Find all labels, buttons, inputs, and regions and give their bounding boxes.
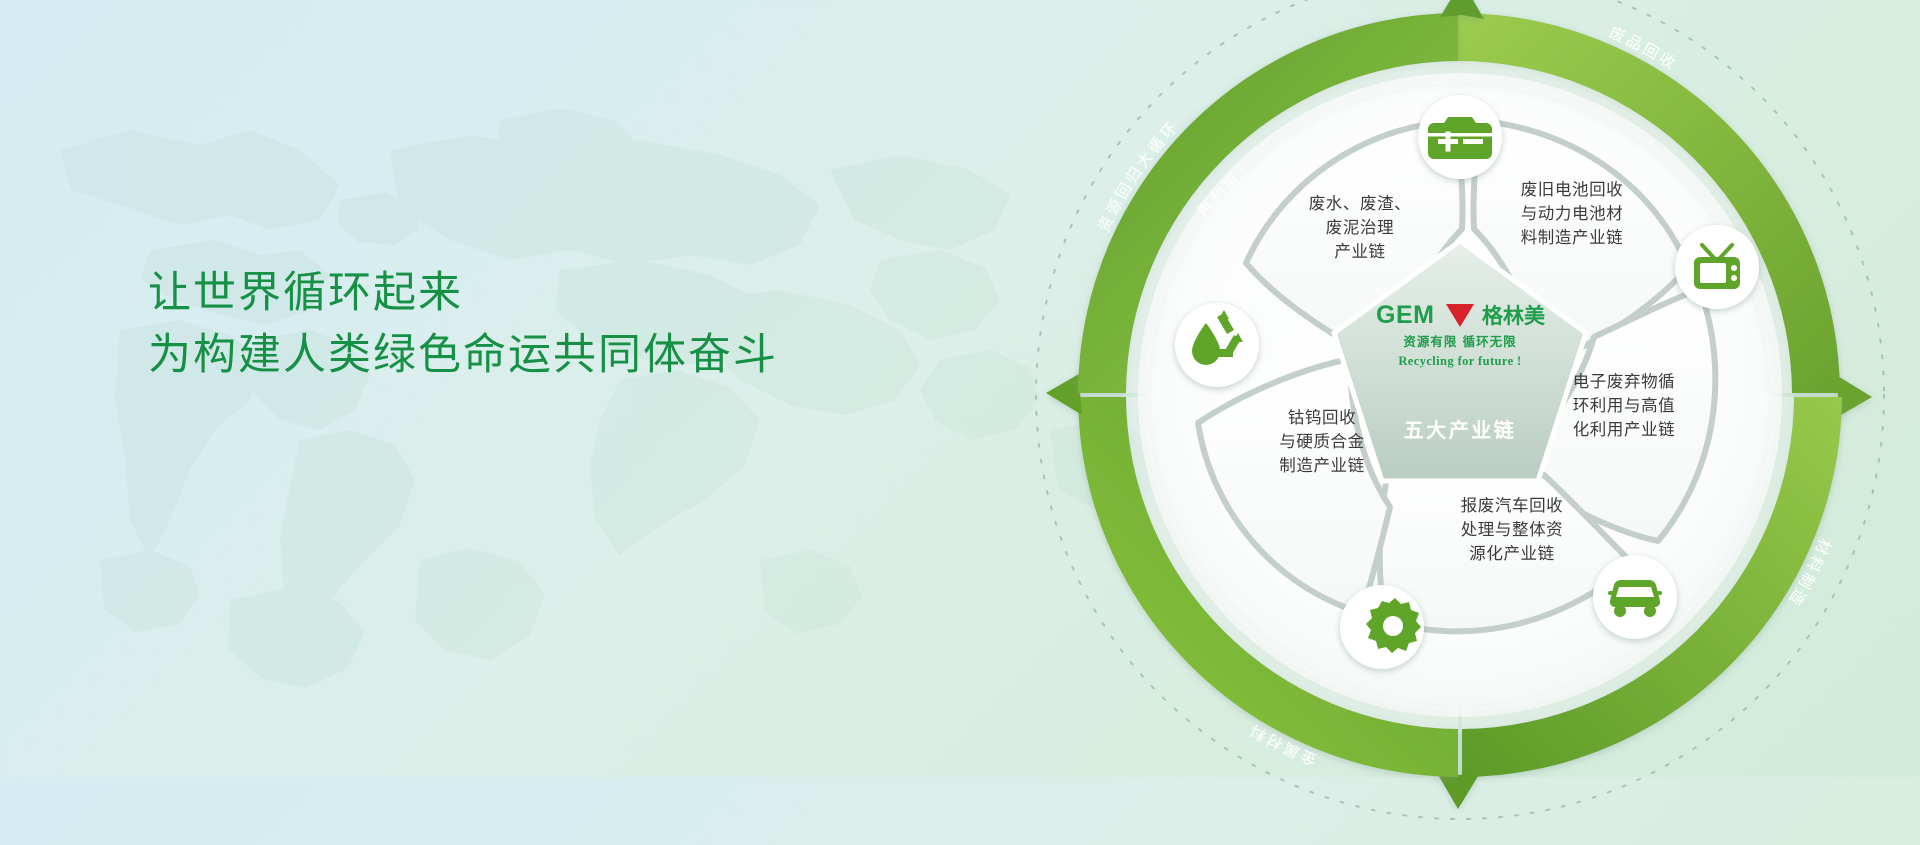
world-map-landmasses xyxy=(60,108,1165,688)
gem-logo-slogan-cn: 资源有限 循环无限 xyxy=(1403,334,1516,349)
center-title: 五大产业链 xyxy=(1404,418,1517,442)
segment-label-cobalt-tungsten: 钴钨回收 与硬质合金 制造产业链 xyxy=(1279,408,1365,475)
headline-line-1: 让世界循环起来 xyxy=(148,262,778,324)
headline-line-2: 为构建人类绿色命运共同体奋斗 xyxy=(148,324,778,386)
badge-gear[interactable] xyxy=(1340,585,1424,669)
svg-text:废泥治理: 废泥治理 xyxy=(1326,218,1394,237)
svg-text:报废汽车回收: 报废汽车回收 xyxy=(1461,496,1564,515)
badge-car[interactable] xyxy=(1593,555,1677,639)
svg-text:产业链: 产业链 xyxy=(1334,242,1385,261)
svg-text:与动力电池材: 与动力电池材 xyxy=(1521,204,1624,223)
svg-text:处理与整体资: 处理与整体资 xyxy=(1461,520,1564,539)
battery-icon xyxy=(1428,117,1492,159)
svg-text:与硬质合金: 与硬质合金 xyxy=(1279,432,1365,451)
svg-text:废旧电池回收: 废旧电池回收 xyxy=(1521,180,1624,199)
gem-logo-name-cn: 格林美 xyxy=(1482,304,1545,328)
five-industrial-chains-diagram: 废品回收 材料制造 金属材料 资源回归大循环 再利用 GEM 格林美 资源有限 … xyxy=(1010,0,1910,845)
badge-television[interactable] xyxy=(1675,225,1759,309)
svg-text:制造产业链: 制造产业链 xyxy=(1279,456,1365,475)
gem-logo-slogan-en: Recycling for future ! xyxy=(1398,354,1521,368)
gem-logo-mark: GEM xyxy=(1376,301,1434,329)
svg-text:源化产业链: 源化产业链 xyxy=(1469,544,1555,563)
segment-label-battery: 废旧电池回收 与动力电池材 料制造产业链 xyxy=(1521,180,1624,247)
badge-recycle-drop[interactable] xyxy=(1175,303,1259,387)
segment-label-vehicle: 报废汽车回收 处理与整体资 源化产业链 xyxy=(1461,496,1564,563)
svg-text:料制造产业链: 料制造产业链 xyxy=(1521,228,1624,247)
svg-text:钴钨回收: 钴钨回收 xyxy=(1288,408,1356,427)
badge-battery[interactable] xyxy=(1418,95,1502,179)
svg-text:电子废弃物循: 电子废弃物循 xyxy=(1573,372,1676,391)
segment-label-ewaste: 电子废弃物循 环利用与高值 化利用产业链 xyxy=(1573,372,1676,439)
svg-text:环利用与高值: 环利用与高值 xyxy=(1573,396,1676,415)
svg-text:化利用产业链: 化利用产业链 xyxy=(1573,420,1676,439)
svg-text:废水、废渣、: 废水、废渣、 xyxy=(1309,194,1412,213)
headline-block: 让世界循环起来 为构建人类绿色命运共同体奋斗 xyxy=(148,262,778,386)
